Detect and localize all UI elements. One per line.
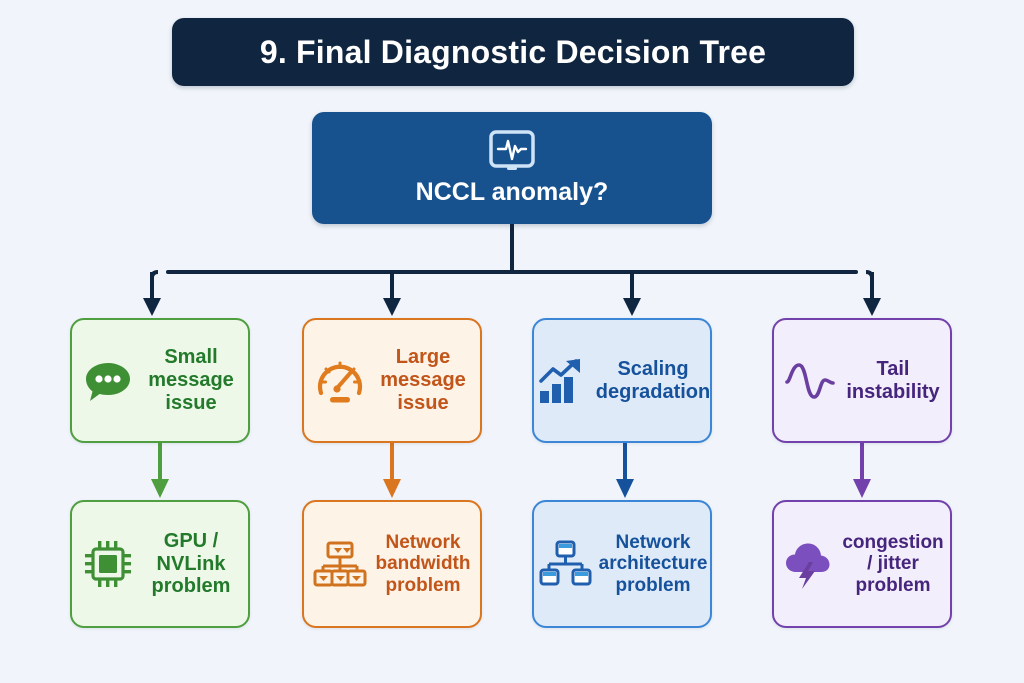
wave-curve-icon xyxy=(782,353,838,409)
bar-chart-trend-icon xyxy=(534,353,590,409)
node-label: Network bandwidth problem xyxy=(374,532,472,597)
cpu-chip-icon xyxy=(80,536,136,592)
network-switch-icon xyxy=(312,536,368,592)
node-large-message-issue[interactable]: Large message issue xyxy=(302,318,482,443)
node-small-message-issue[interactable]: Small message issue xyxy=(70,318,250,443)
root-node-nccl-anomaly[interactable]: NCCL anomaly? xyxy=(312,112,712,224)
node-label: congestion / jitter problem xyxy=(842,532,943,597)
node-gpu-nvlink-problem[interactable]: GPU / NVLink problem xyxy=(70,500,250,628)
hierarchy-icon xyxy=(537,536,593,592)
gauge-icon xyxy=(312,353,368,409)
node-congestion-jitter-problem[interactable]: congestion / jitter problem xyxy=(772,500,952,628)
node-tail-instability[interactable]: Tail instability xyxy=(772,318,952,443)
node-network-bandwidth-problem[interactable]: Network bandwidth problem xyxy=(302,500,482,628)
node-network-architecture-problem[interactable]: Network architecture problem xyxy=(532,500,712,628)
node-label: Large message issue xyxy=(374,346,472,414)
diagram-canvas: 9. Final Diagnostic Decision Tree xyxy=(0,0,1024,683)
node-label: Small message issue xyxy=(142,346,240,414)
speech-bubble-icon xyxy=(80,353,136,409)
root-node-label: NCCL anomaly? xyxy=(416,178,609,207)
monitor-pulse-icon xyxy=(488,130,536,172)
node-label: Network architecture problem xyxy=(599,532,708,597)
node-label: Tail instability xyxy=(844,358,942,404)
node-label: GPU / NVLink problem xyxy=(142,530,240,598)
page-title: 9. Final Diagnostic Decision Tree xyxy=(260,34,766,71)
diagram-title-banner: 9. Final Diagnostic Decision Tree xyxy=(172,18,854,86)
node-scaling-degradation[interactable]: Scaling degradation xyxy=(532,318,712,443)
node-label: Scaling degradation xyxy=(596,358,710,404)
storm-cloud-bolt-icon xyxy=(780,536,836,592)
